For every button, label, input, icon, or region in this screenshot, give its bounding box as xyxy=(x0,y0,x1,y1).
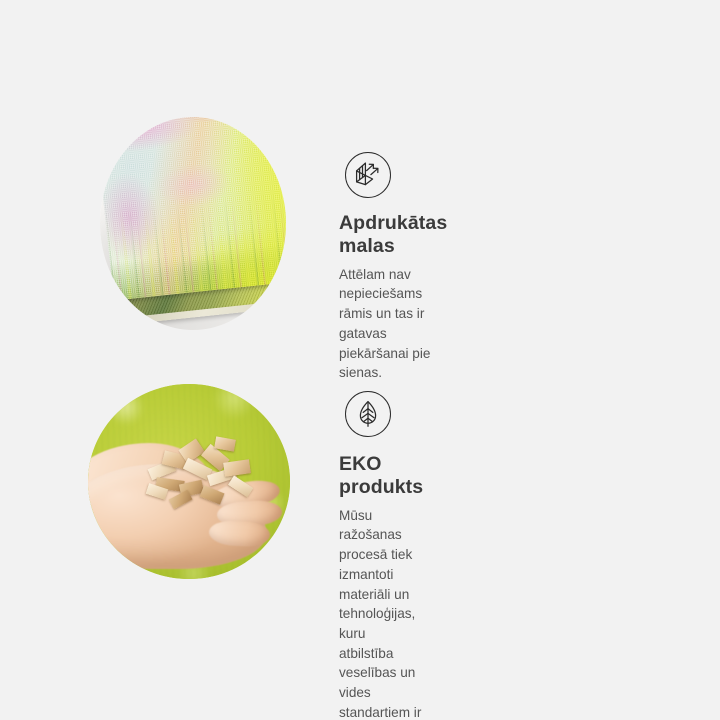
wood-chip-pile xyxy=(145,437,262,519)
canvas-printed-face xyxy=(100,117,286,309)
hands-holding-wood-chips-photo xyxy=(88,384,290,579)
wood-chip xyxy=(169,490,193,509)
product-features-panel: Apdrukātas malas Attēlam nav nepieciešam… xyxy=(0,0,720,720)
wood-chip xyxy=(223,459,250,476)
feature-text-eco-product: EKO produkts Mūsu ražošanas procesā tiek… xyxy=(339,453,423,720)
leaf-icon xyxy=(345,391,391,437)
feature-description: Attēlam nav nepieciešams rāmis un tas ir… xyxy=(339,265,447,383)
feature-title: Apdrukātas malas xyxy=(339,212,447,259)
feature-description: Mūsu ražošanas procesā tiek izmantoti ma… xyxy=(339,506,423,720)
canvas-object xyxy=(100,117,286,330)
wood-chip xyxy=(199,485,224,505)
canvas-print-corner-photo xyxy=(100,117,286,330)
wood-chip xyxy=(228,475,254,497)
feature-title: EKO produkts xyxy=(339,453,423,500)
wrapped-canvas-edge-icon xyxy=(345,152,391,198)
feature-text-printed-edges: Apdrukātas malas Attēlam nav nepieciešam… xyxy=(339,212,447,383)
